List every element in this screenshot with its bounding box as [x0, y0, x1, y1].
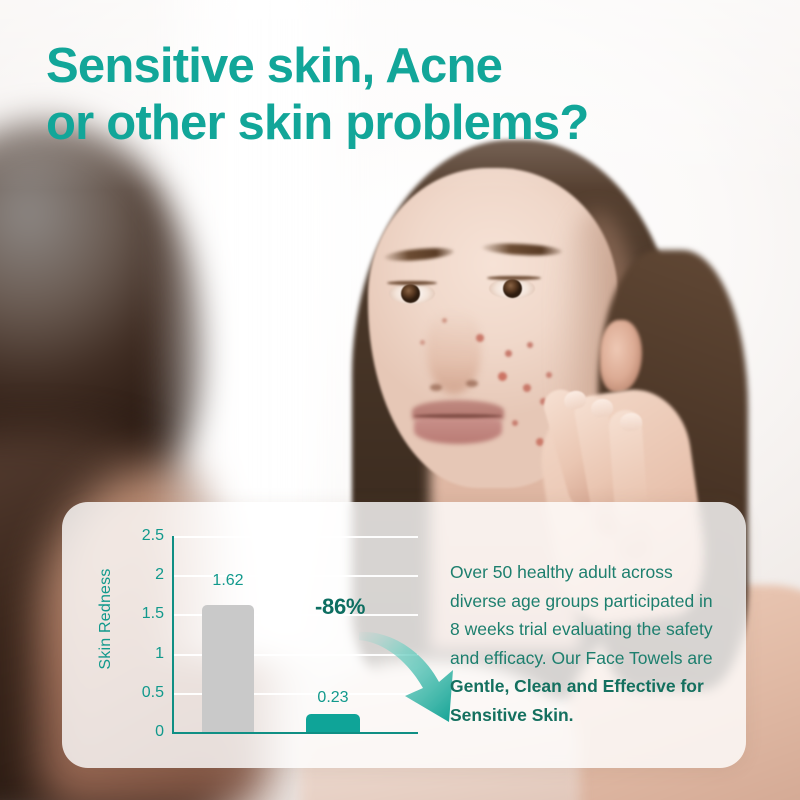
- y-axis-line: [172, 536, 174, 734]
- y-tick-label: 1: [155, 645, 164, 663]
- acne-spot: [505, 350, 512, 357]
- y-tick-label: 0.5: [142, 684, 164, 702]
- y-tick-label: 2: [155, 566, 164, 584]
- y-tick-label: 1.5: [142, 605, 164, 623]
- plot-area: 2.5 2 1.5 1 0.5 0 1.62 0.23: [172, 536, 418, 734]
- bar-after: [306, 714, 360, 732]
- results-card: Skin Redness 2.5 2 1.5 1 0.5 0: [62, 502, 746, 768]
- study-description-bold: Gentle, Clean and Effective for Sensitiv…: [450, 676, 704, 725]
- percent-change-badge: -86%: [315, 594, 365, 620]
- page-title: Sensitive skin, Acne or other skin probl…: [46, 38, 746, 152]
- study-description-normal: Over 50 healthy adult across diverse age…: [450, 562, 713, 668]
- acne-spot: [546, 372, 552, 378]
- bar-value-label-after: 0.23: [317, 689, 348, 707]
- eyelid-left: [387, 281, 437, 285]
- gridline: [174, 536, 418, 538]
- x-axis-line: [172, 732, 418, 734]
- study-description: Over 50 healthy adult across diverse age…: [450, 558, 726, 729]
- gridline: [174, 575, 418, 577]
- iris-left: [401, 284, 420, 303]
- iris-right: [503, 279, 522, 298]
- mouth-line: [414, 414, 502, 418]
- nostril-left: [430, 384, 442, 391]
- bar-value-label-before: 1.62: [212, 572, 243, 590]
- ad-creative: Sensitive skin, Acne or other skin probl…: [0, 0, 800, 800]
- nostril-right: [466, 380, 478, 387]
- fingernail: [619, 412, 642, 431]
- bar-before: [202, 605, 254, 732]
- lower-lip: [414, 418, 502, 444]
- y-tick-label: 0: [155, 723, 164, 741]
- acne-spot: [512, 420, 518, 426]
- acne-spot: [476, 334, 484, 342]
- y-axis-title: Skin Redness: [97, 539, 115, 699]
- skin-redness-bar-chart: Skin Redness 2.5 2 1.5 1 0.5 0: [62, 502, 432, 768]
- eyelid-right: [487, 276, 541, 280]
- acne-spot: [420, 340, 425, 345]
- acne-spot: [527, 342, 533, 348]
- y-tick-label: 2.5: [142, 527, 164, 545]
- acne-spot: [442, 318, 447, 323]
- acne-spot: [498, 372, 507, 381]
- acne-spot: [523, 384, 531, 392]
